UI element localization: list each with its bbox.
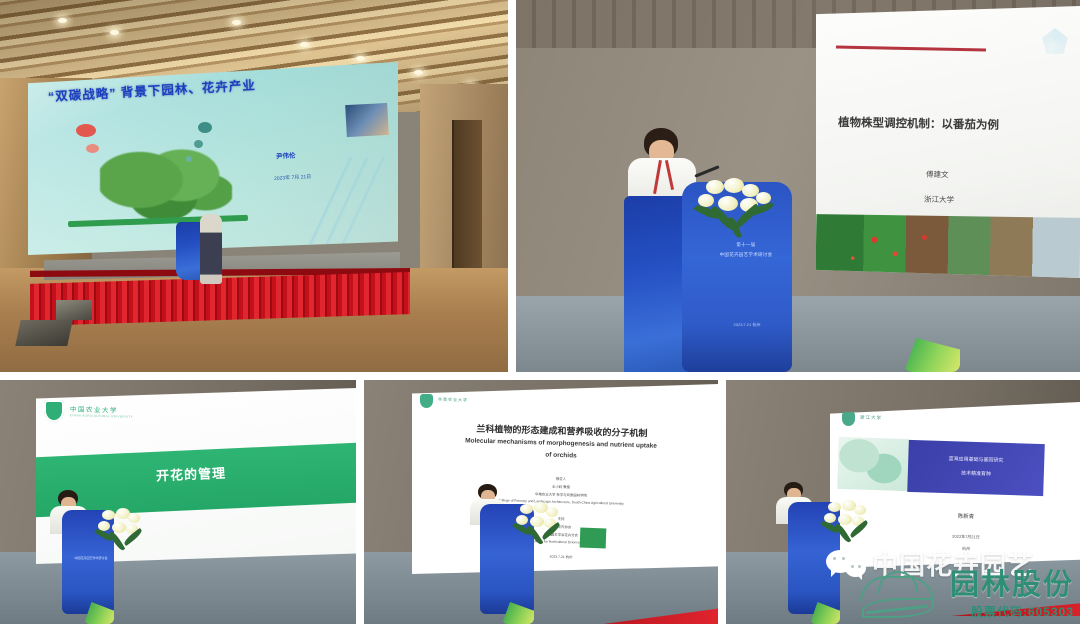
screen-inset-photo: [345, 103, 389, 137]
screen-wave-graphic: [274, 157, 394, 249]
floor-equipment: [56, 300, 92, 320]
blue-scene: 浙江大学 蓝海应用基础与基因研究 技术精准育种 陈新青 2023年7月21日 杭…: [726, 380, 1080, 624]
hall-scene: “双碳战略” 背景下园林、花卉产业 尹伟伦 2023年 7月 21日: [0, 0, 508, 372]
bubble-icon: [194, 140, 203, 148]
downlight-icon: [232, 20, 241, 25]
university-logo-text: 华南农业大学: [438, 397, 468, 404]
speaker-figure: [200, 214, 222, 284]
slide-title: 植物株型调控机制：以番茄为例: [838, 114, 1068, 134]
photo-panel-speaker[interactable]: 植物株型调控机制：以番茄为例 傅建文 浙江大学 第十一届 中国花卉园艺学术研讨会…: [516, 0, 1080, 372]
photo-panel-orchid-talk[interactable]: 华南农业大学 兰科植物的形态建成和营养吸收的分子机制 Molecular mec…: [364, 380, 718, 624]
speaker-scene: 植物株型调控机制：以番茄为例 傅建文 浙江大学 第十一届 中国花卉园艺学术研讨会…: [516, 0, 1080, 372]
orchid-scene: 华南农业大学 兰科植物的形态建成和营养吸收的分子机制 Molecular mec…: [364, 380, 718, 624]
university-logo-icon: [1042, 28, 1068, 54]
photo-collage: “双碳战略” 背景下园林、花卉产业 尹伟伦 2023年 7月 21日 植物株型调…: [0, 0, 1080, 624]
stage-floor: [516, 296, 1080, 372]
university-logo-text: 浙江大学: [860, 415, 882, 422]
slide-photo: [837, 437, 909, 491]
flower-bouquet: [92, 508, 150, 566]
tree-graphic: [100, 148, 232, 224]
photo-panel-wide-hall[interactable]: “双碳战略” 背景下园林、花卉产业 尹伟伦 2023年 7月 21日: [0, 0, 508, 372]
flower-scene: 中国农业大学 CHINA AGRICULTURAL UNIVERSITY 开花的…: [0, 380, 356, 624]
downlight-icon: [300, 42, 309, 47]
slide-title: 开花的管理: [156, 463, 227, 485]
slide-author: 傅建文: [926, 169, 949, 180]
flower-bouquet: [688, 178, 782, 270]
bubble-icon: [86, 144, 99, 153]
podium-date: 2023.7.21 杭州: [712, 322, 782, 328]
hall-door: [452, 120, 482, 270]
slide-organization: 浙江大学: [924, 194, 954, 206]
slide-green-chip: [580, 528, 607, 549]
photo-panel-flowering-talk[interactable]: 中国农业大学 CHINA AGRICULTURAL UNIVERSITY 开花的…: [0, 380, 356, 624]
bubble-icon: [76, 124, 96, 137]
photo-panel-blue-box-talk[interactable]: 浙江大学 蓝海应用基础与基因研究 技术精准育种 陈新青 2023年7月21日 杭…: [726, 380, 1080, 624]
bubble-icon: [198, 122, 212, 133]
flower-bouquet: [818, 500, 874, 558]
slide-photo-strip: [816, 214, 1080, 280]
downlight-icon: [356, 56, 365, 61]
downlight-icon: [414, 70, 423, 75]
downlight-icon: [58, 18, 67, 23]
accent-rule: [836, 46, 986, 52]
university-logo-icon: [420, 394, 433, 408]
floor-equipment: [15, 320, 73, 346]
university-logo-icon: [842, 412, 855, 426]
projection-screen: 植物株型调控机制：以番茄为例 傅建文 浙江大学: [816, 6, 1080, 278]
downlight-icon: [110, 30, 119, 35]
flower-bouquet: [510, 502, 566, 560]
bubble-icon: [186, 156, 192, 162]
university-logo-icon: [44, 400, 64, 422]
slide-author: 尹伟伦: [276, 149, 296, 160]
